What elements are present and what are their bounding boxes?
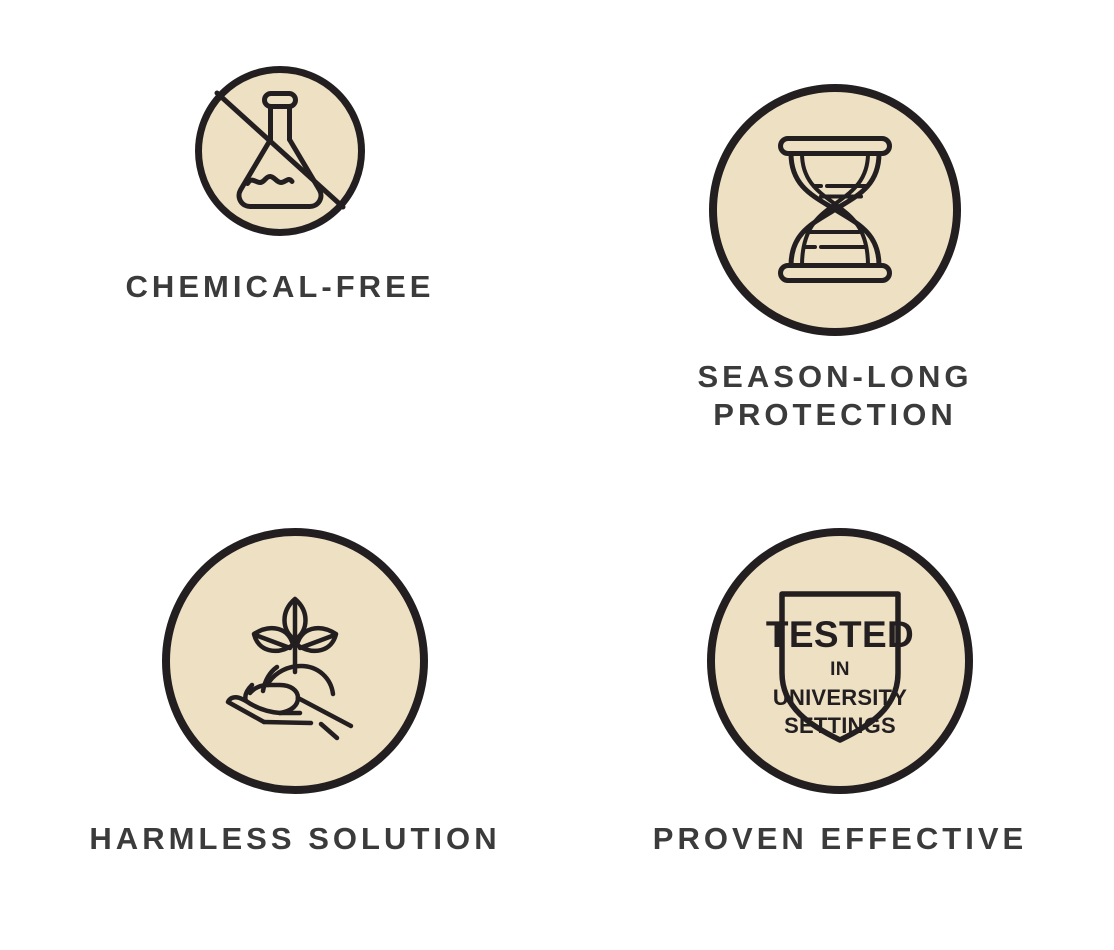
badge-caption-season-long-protection: SEASON-LONG PROTECTION <box>697 358 972 434</box>
badge-disc-proven-effective: TESTED IN UNIVERSITY SETTINGS <box>707 528 973 794</box>
badge-season-long-protection: SEASON-LONG PROTECTION <box>556 84 1114 434</box>
hourglass-icon <box>769 134 901 286</box>
hand-holding-sprout-icon <box>206 572 384 750</box>
badge-disc-harmless-solution <box>162 528 428 794</box>
no-chemicals-flask-icon <box>202 73 358 229</box>
badge-caption-harmless-solution: HARMLESS SOLUTION <box>89 820 500 858</box>
badge-caption-chemical-free: CHEMICAL-FREE <box>126 268 435 306</box>
badge-proven-effective: TESTED IN UNIVERSITY SETTINGS PROVEN EFF… <box>566 528 1114 858</box>
badge-harmless-solution: HARMLESS SOLUTION <box>0 528 590 858</box>
badge-caption-proven-effective: PROVEN EFFECTIVE <box>653 820 1028 858</box>
tested-shield-icon <box>747 568 933 754</box>
badge-grid: CHEMICAL-FREE <box>0 0 1114 950</box>
badge-disc-chemical-free <box>195 66 365 236</box>
badge-disc-season-long-protection <box>709 84 961 336</box>
badge-chemical-free: CHEMICAL-FREE <box>0 66 560 306</box>
